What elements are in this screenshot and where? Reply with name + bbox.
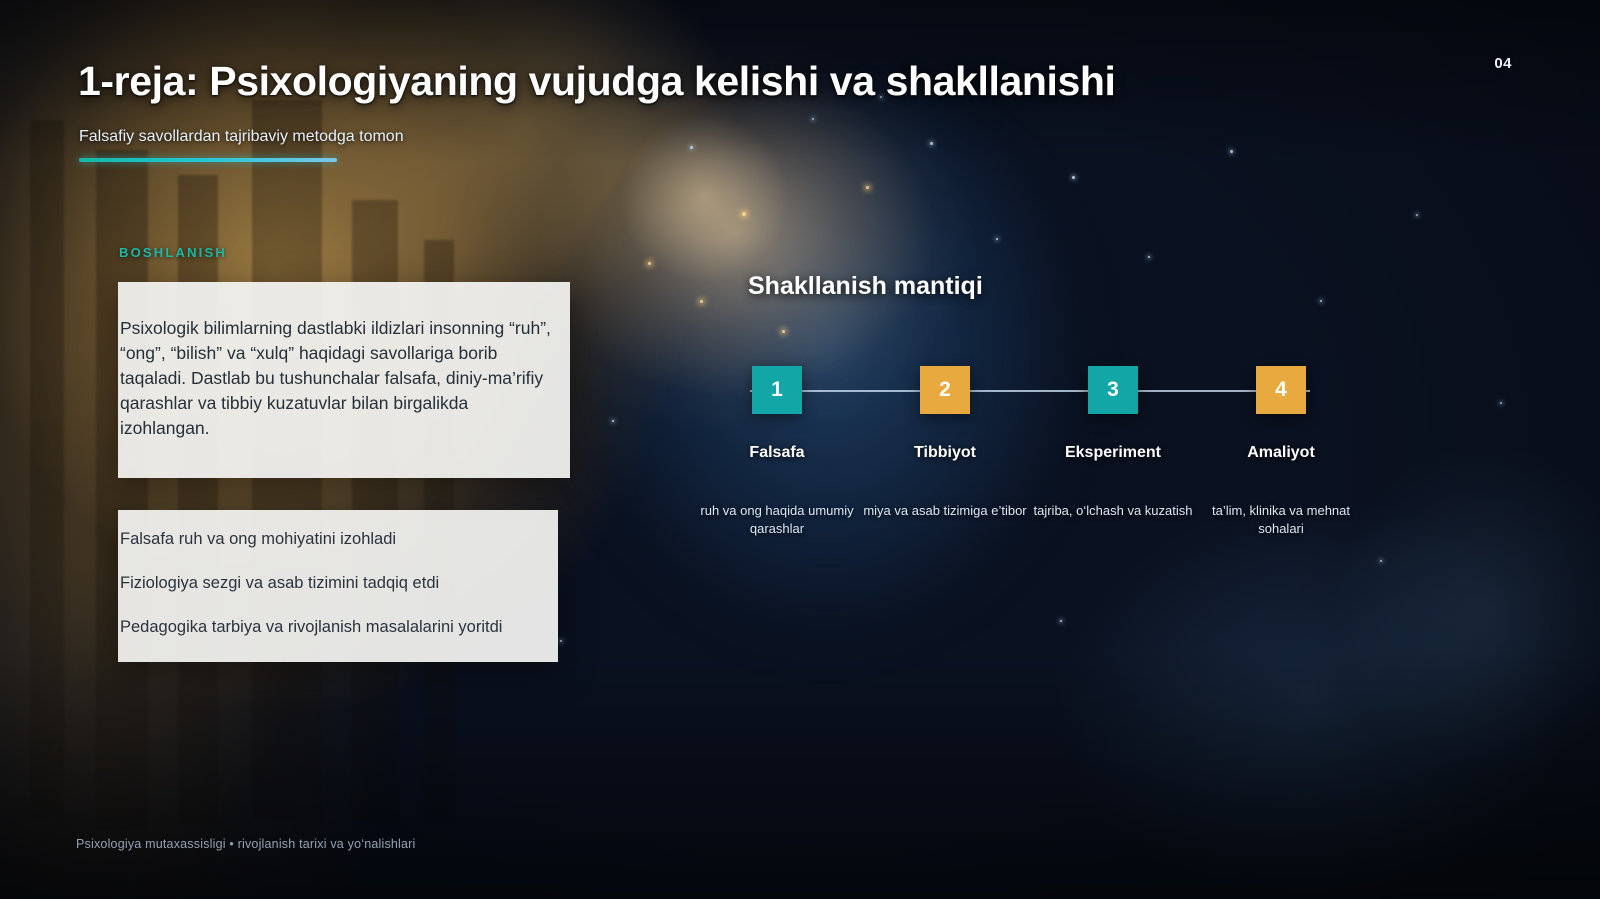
timeline-step-2-caption: miya va asab tizimiga e’tibor — [861, 502, 1029, 520]
slide-title: 1-reja: Psixologiyaning vujudga kelishi … — [78, 58, 1116, 105]
timeline-step-1-marker[interactable]: 1 — [752, 366, 802, 414]
timeline-step-4-marker[interactable]: 4 — [1256, 366, 1306, 414]
slide-content: 1-reja: Psixologiyaning vujudga kelishi … — [0, 0, 1600, 899]
timeline-steps: 1 2 3 4 — [710, 366, 1410, 426]
list-item: Fiziologiya sezgi va asab tizimini tadqi… — [120, 572, 540, 594]
title-underline-rule — [79, 158, 337, 162]
presentation-slide: 1-reja: Psixologiyaning vujudga kelishi … — [0, 0, 1600, 899]
summary-card: Psixologik bilimlarning dastlabki ildizl… — [118, 282, 570, 478]
timeline-step-3-marker[interactable]: 3 — [1088, 366, 1138, 414]
formation-timeline: 1 2 3 4 Falsafa Tibbiyot Eksperiment Ama… — [710, 366, 1410, 426]
slide-subtitle: Falsafiy savollardan tajribaviy metodga … — [79, 128, 404, 146]
key-points-card: Falsafa ruh va ong mohiyatini izohladi F… — [118, 510, 558, 662]
list-item: Falsafa ruh va ong mohiyatini izohladi — [120, 528, 540, 550]
timeline-heading: Shakllanish mantiqi — [748, 272, 983, 301]
timeline-step-4-label: Amaliyot — [1201, 444, 1361, 462]
timeline-step-1-label: Falsafa — [697, 444, 857, 462]
timeline-step-4-caption: ta’lim, klinika va mehnat sohalari — [1197, 502, 1365, 538]
list-item: Pedagogika tarbiya va rivojlanish masala… — [120, 616, 540, 638]
page-number: 04 — [1494, 55, 1512, 72]
timeline-step-3-caption: tajriba, o‘lchash va kuzatish — [1029, 502, 1197, 520]
timeline-step-2-label: Tibbiyot — [865, 444, 1025, 462]
section-eyebrow-label: BOSHLANISH — [119, 245, 227, 260]
summary-paragraph: Psixologik bilimlarning dastlabki ildizl… — [118, 316, 552, 441]
footer-note: Psixologiya mutaxassisligi • rivojlanish… — [76, 837, 416, 851]
timeline-step-2-marker[interactable]: 2 — [920, 366, 970, 414]
timeline-step-1-caption: ruh va ong haqida umumiy qarashlar — [693, 502, 861, 538]
timeline-step-3-label: Eksperiment — [1033, 444, 1193, 462]
